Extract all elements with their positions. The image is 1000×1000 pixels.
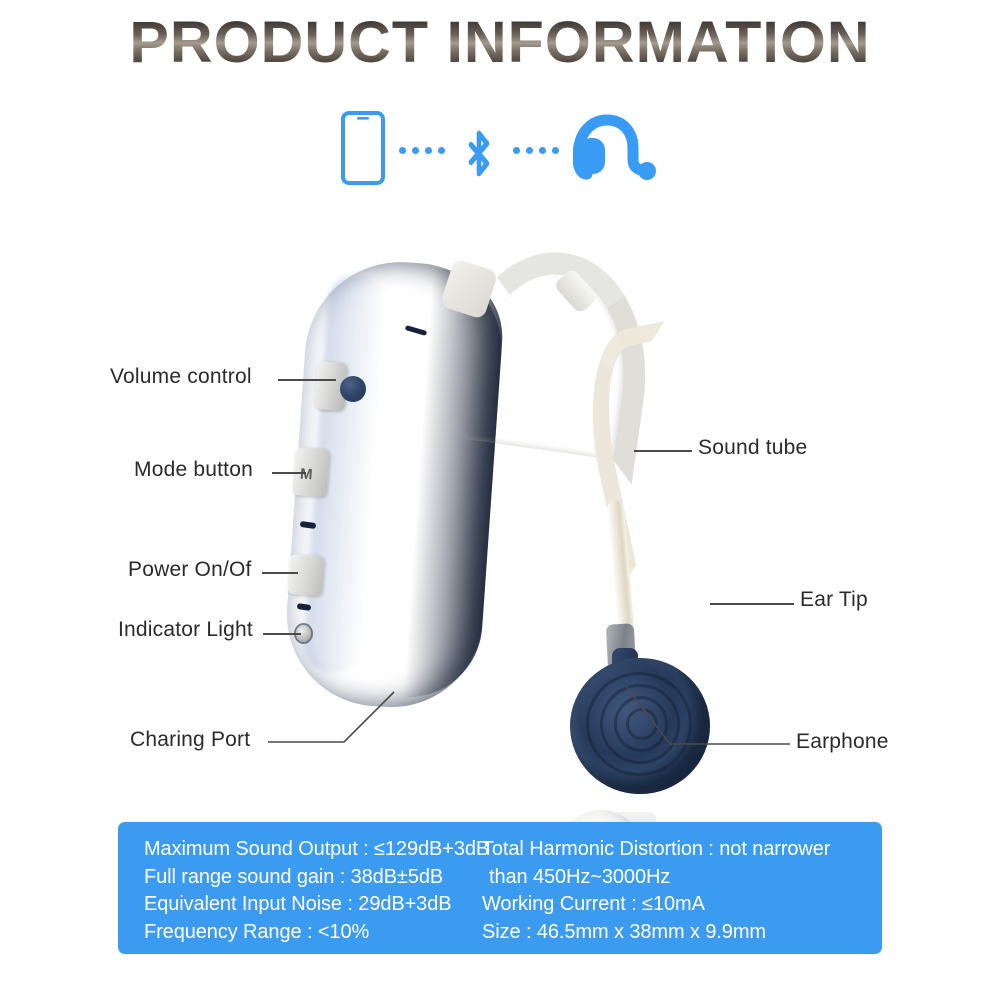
product-photo: M Volume control Mode button Power On/Of… (0, 200, 1000, 810)
hearing-aid-icon (573, 114, 659, 187)
leader-line-earphone (626, 686, 792, 756)
mode-button-label: M (299, 466, 313, 484)
callout-label-earphone: Earphone (796, 730, 889, 754)
specs-column-left: Maximum Sound Output : ≤129dB+3dB Full r… (118, 836, 474, 944)
bluetooth-icon (459, 118, 499, 183)
spec-line: Full range sound gain : 38dB±5dB (144, 864, 474, 892)
smartphone-icon (341, 111, 385, 190)
specifications-panel: Maximum Sound Output : ≤129dB+3dB Full r… (118, 822, 882, 954)
leader-line-sound-tube (634, 450, 692, 452)
callout-label-mode-button: Mode button (134, 458, 253, 482)
volume-control-knob[interactable] (340, 376, 366, 402)
spec-line: Frequency Range : <10% (144, 919, 474, 947)
leader-line-mode-button (272, 472, 306, 474)
callout-label-power: Power On/Of (128, 558, 252, 582)
connection-dots-right (513, 147, 559, 154)
spec-line: Maximum Sound Output : ≤129dB+3dB (144, 836, 474, 864)
spec-line: Equivalent Input Noise : 29dB+3dB (144, 891, 474, 919)
spec-line: Working Current : ≤10mA (482, 891, 874, 919)
spec-line: Total Harmonic Distortion : not narrower (482, 836, 874, 864)
callout-label-indicator-light: Indicator Light (118, 618, 253, 642)
leader-line-charging-port (268, 686, 398, 756)
product-information-page: PRODUCT INFORMATION (0, 0, 1000, 1000)
callout-label-volume-control: Volume control (110, 365, 252, 389)
page-title: PRODUCT INFORMATION (0, 8, 1000, 78)
connection-dots-left (399, 147, 445, 154)
callout-label-ear-tip: Ear Tip (800, 588, 868, 612)
leader-line-volume-control (278, 379, 336, 381)
callout-label-sound-tube: Sound tube (698, 436, 807, 460)
power-button[interactable] (288, 554, 325, 596)
leader-line-indicator-light (263, 633, 301, 635)
spec-line: Size : 46.5mm x 38mm x 9.9mm (482, 919, 874, 947)
leader-line-power (262, 572, 298, 574)
specs-column-right: Total Harmonic Distortion : not narrower… (474, 836, 874, 944)
leader-line-ear-tip (710, 603, 794, 605)
spec-line: than 450Hz~3000Hz (482, 864, 874, 892)
connectivity-diagram (0, 105, 1000, 195)
callout-label-charging-port: Charing Port (130, 728, 250, 752)
